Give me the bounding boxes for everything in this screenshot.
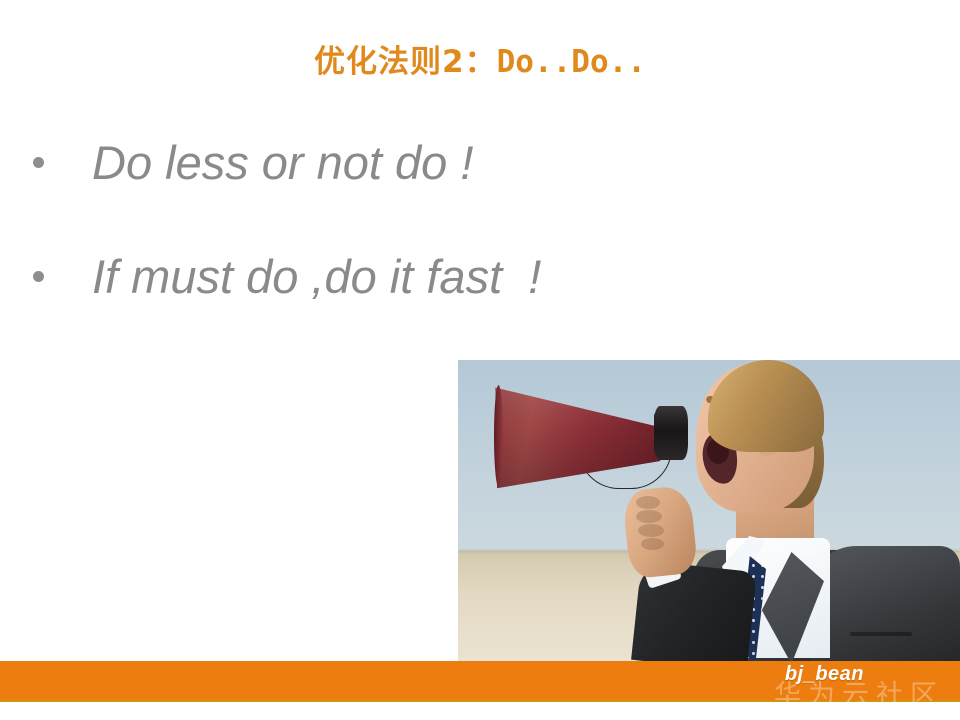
megaphone-photo xyxy=(458,360,960,661)
suit-pocket xyxy=(850,632,912,636)
list-item: If must do ,do it fast ! xyxy=(0,240,700,312)
brand-label: bj_bean xyxy=(785,663,864,686)
suit-shoulder xyxy=(810,546,960,661)
page-title: 优化法则2：Do..Do.. xyxy=(0,36,960,81)
megaphone-mouthpiece xyxy=(654,406,688,460)
bullet-dot-icon xyxy=(33,271,44,282)
bullet-text: If must do ,do it fast ! xyxy=(92,253,541,300)
list-item: Do less or not do ! xyxy=(0,126,700,198)
page-title-cn: 优化法则2： xyxy=(314,44,497,80)
knuckle xyxy=(636,496,660,509)
bullet-text: Do less or not do ! xyxy=(92,139,473,186)
bullet-list: Do less or not do ! If must do ,do it fa… xyxy=(0,126,700,354)
megaphone-rim xyxy=(494,385,503,487)
knuckle xyxy=(641,538,664,550)
slide-canvas: 优化法则2：Do..Do.. Do less or not do ! If mu… xyxy=(0,0,960,720)
knuckle xyxy=(636,510,662,523)
page-title-en: Do..Do.. xyxy=(497,44,646,80)
knuckle xyxy=(638,524,664,537)
bullet-dot-icon xyxy=(33,157,44,168)
